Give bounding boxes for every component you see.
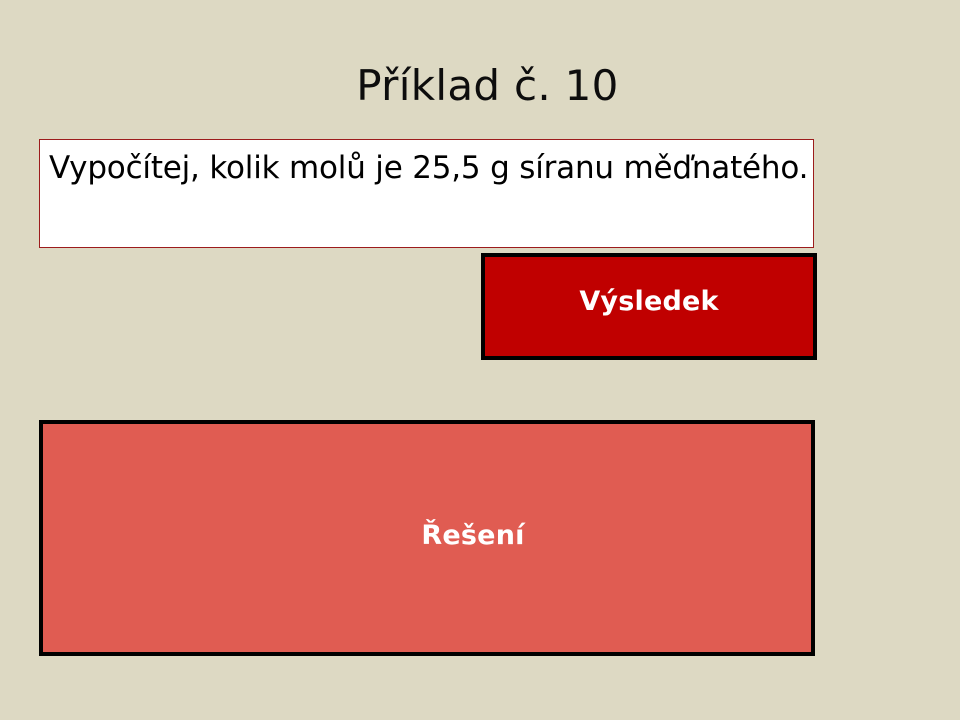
result-button-label: Výsledek — [485, 286, 813, 317]
solution-button[interactable]: Řešení — [39, 420, 815, 656]
question-text: Vypočítej, kolik molů je 25,5 g síranu m… — [49, 146, 811, 190]
page-title: Příklad č. 10 — [0, 62, 960, 110]
solution-button-label: Řešení — [43, 520, 903, 551]
question-text-box: Vypočítej, kolik molů je 25,5 g síranu m… — [39, 139, 814, 248]
presentation-slide: Příklad č. 10 Vypočítej, kolik molů je 2… — [0, 0, 960, 720]
result-button[interactable]: Výsledek — [481, 253, 817, 360]
